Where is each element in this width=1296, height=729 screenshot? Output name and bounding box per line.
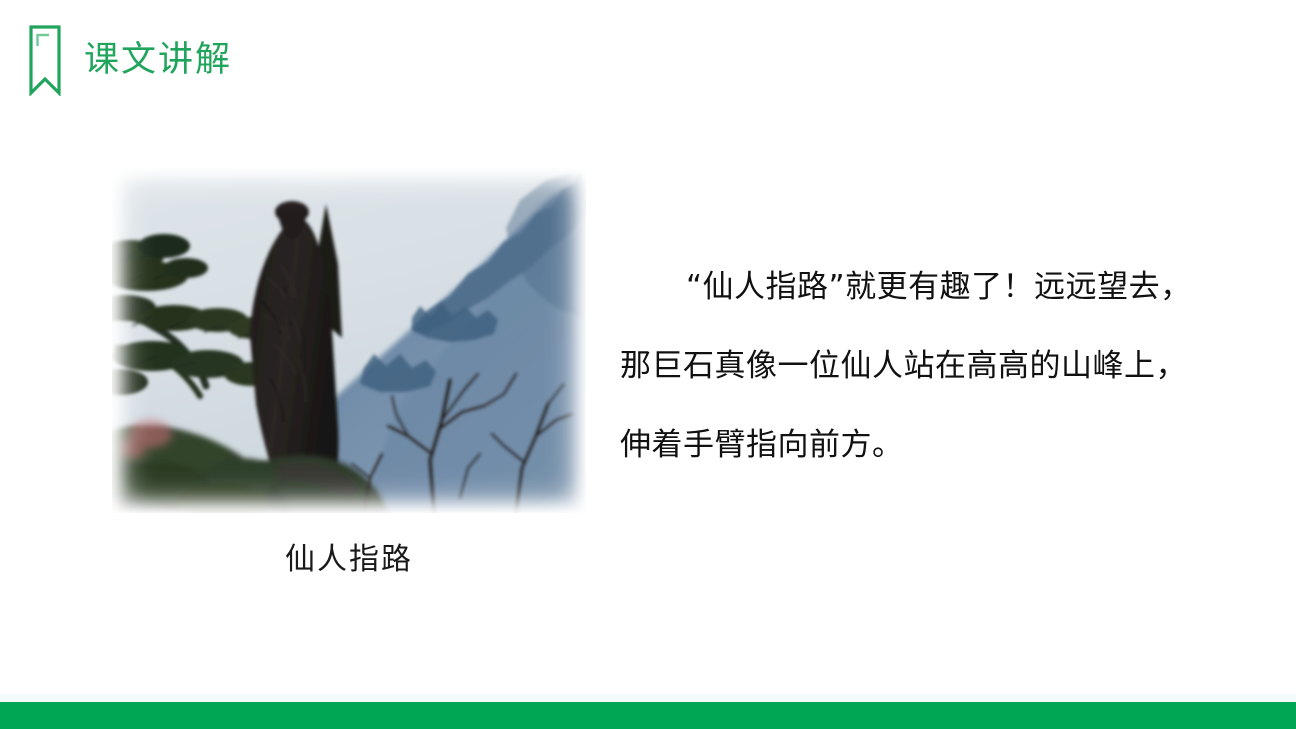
page-title: 课文讲解 — [84, 43, 232, 78]
slide-header: 课文讲解 — [28, 24, 232, 96]
lesson-paragraph: “仙人指路”就更有趣了！远远望去， 那巨石真像一位仙人站在高高的山峰上， 伸着手… — [620, 248, 1230, 485]
figure-xianren-zhilu: 仙人指路 — [112, 168, 586, 513]
bookmark-ribbon-icon — [28, 24, 62, 96]
figure-caption: 仙人指路 — [112, 543, 586, 576]
paragraph-line-2: 那巨石真像一位仙人站在高高的山峰上， — [620, 327, 1230, 406]
footer-green-bar — [0, 702, 1296, 729]
paragraph-line-1: “仙人指路”就更有趣了！远远望去， — [620, 248, 1230, 327]
slide: 课文讲解 — [0, 0, 1296, 729]
paragraph-line-3: 伸着手臂指向前方。 — [620, 406, 1230, 485]
xianren-zhilu-rock-photo — [112, 168, 586, 513]
footer-light-strip — [0, 694, 1296, 702]
photo-frame — [112, 168, 586, 513]
